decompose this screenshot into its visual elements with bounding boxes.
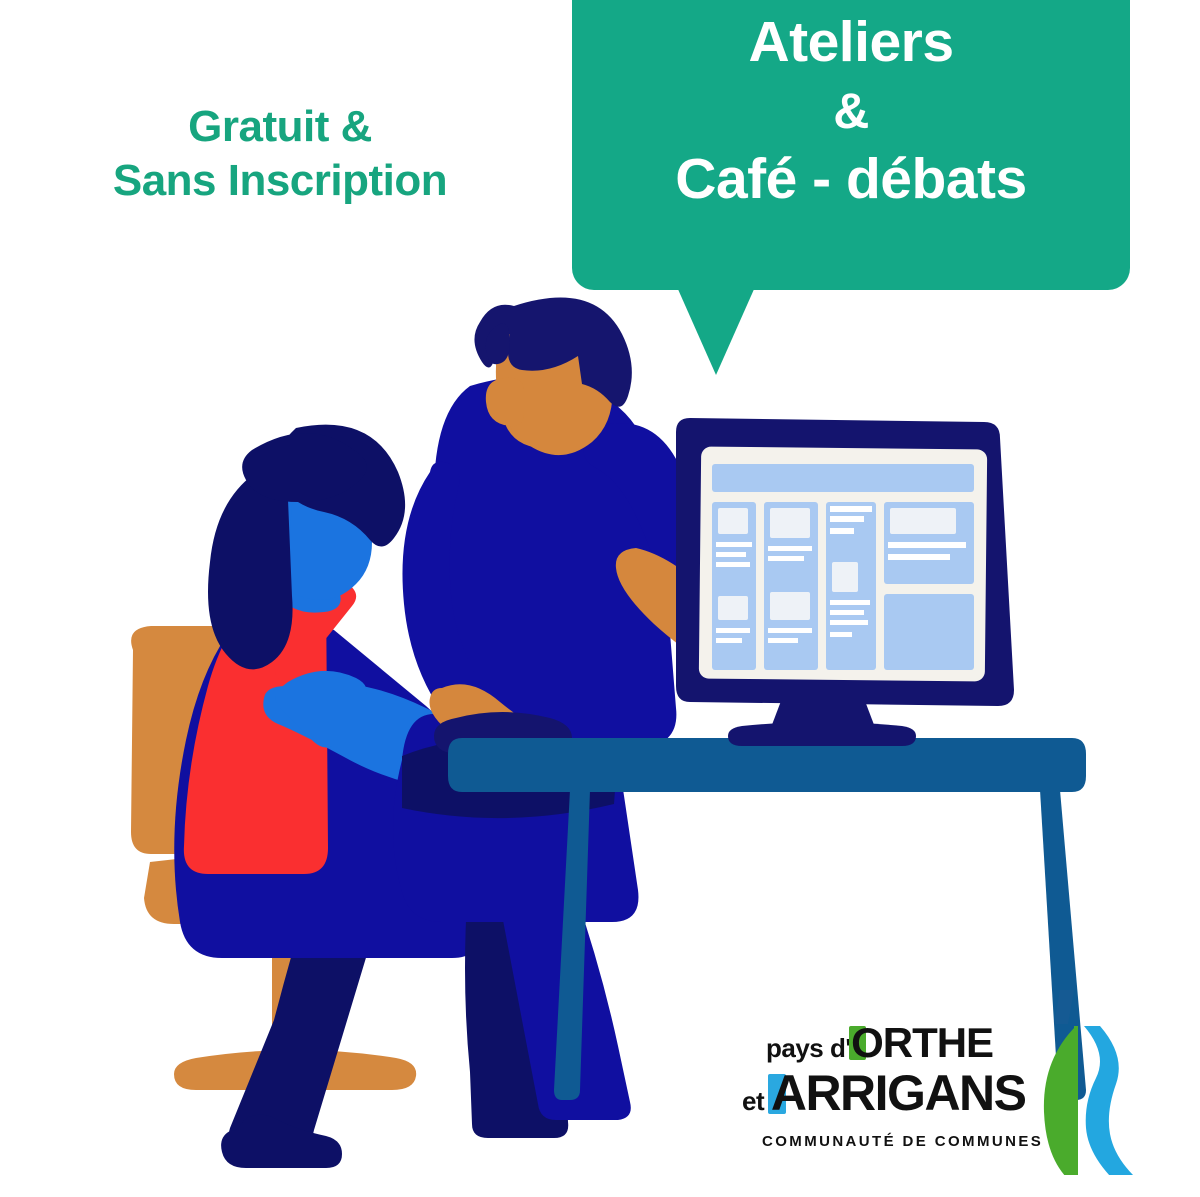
tagline: Gratuit & Sans Inscription [0, 100, 560, 207]
logo-line-orthe: pays d'ORTHE [766, 1022, 993, 1064]
logo-subtitle: COMMUNAUTÉ DE COMMUNES [762, 1133, 1043, 1150]
speech-bubble-text: Ateliers & Café - débats [572, 6, 1130, 216]
tagline-line-2: Sans Inscription [0, 154, 560, 208]
logo-pays-dorthe-et-arrigans: pays d'ORTHE et ARRIGANS COMMUNAUTÉ DE C… [742, 1008, 1162, 1173]
leaf-icon [1044, 1026, 1076, 1175]
logo-prefix: pays d' [766, 1033, 851, 1063]
river-icon [1084, 1026, 1134, 1175]
bubble-line-2: & [572, 79, 1130, 143]
logo-connector: et [742, 1086, 771, 1116]
logo-a-highlight: ARRIGANS [771, 1068, 1026, 1118]
leaf-stem-icon [1054, 990, 1074, 1024]
computer-monitor [676, 418, 1014, 746]
tagline-line-1: Gratuit & [0, 100, 560, 154]
logo-emblem [1034, 990, 1164, 1175]
poster-canvas: Gratuit & Sans Inscription Ateliers & Ca… [0, 0, 1200, 1197]
speech-bubble-tail [677, 287, 755, 375]
logo-o-highlight: ORTHE [851, 1022, 993, 1064]
logo-line-arrigans: et ARRIGANS [742, 1068, 1026, 1118]
speech-bubble: Ateliers & Café - débats [572, 0, 1130, 290]
logo-word-arrigans: ARRIGANS [771, 1065, 1026, 1121]
bubble-line-3: Café - débats [572, 143, 1130, 216]
logo-word-orthe: ORTHE [851, 1019, 993, 1066]
bubble-line-1: Ateliers [572, 6, 1130, 79]
